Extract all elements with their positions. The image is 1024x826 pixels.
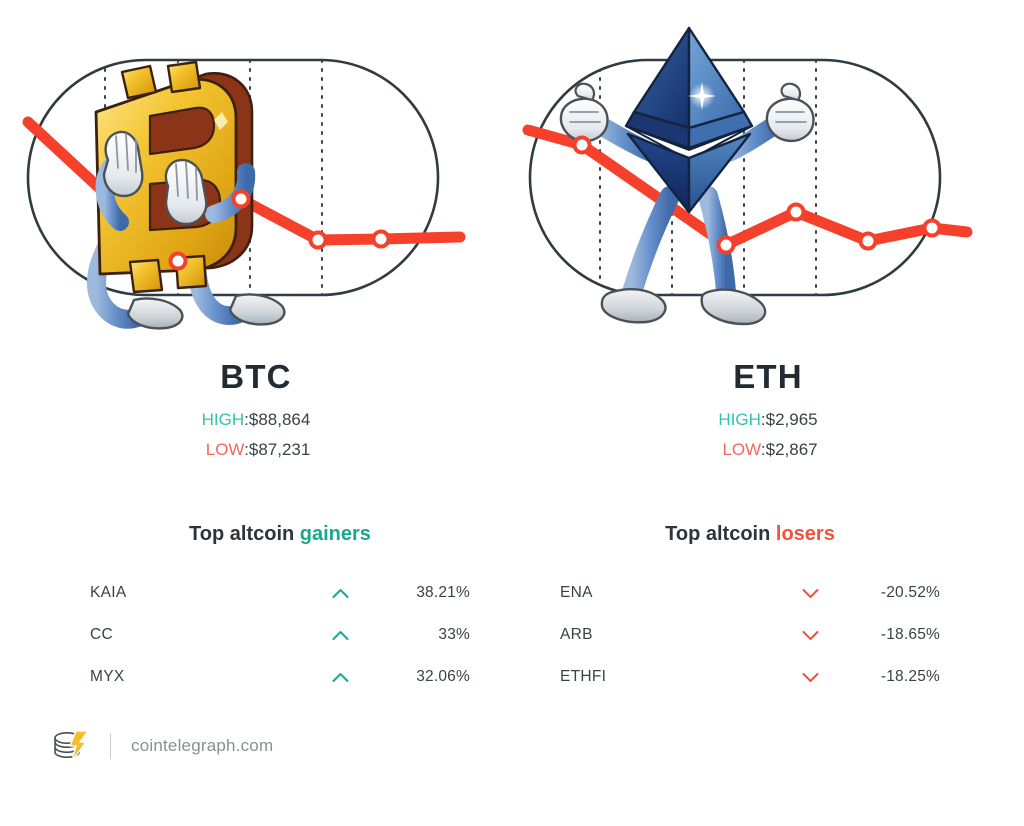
eth-low-label-cell: LOW:: [718, 435, 765, 465]
eth-high-value: $2,965: [766, 405, 818, 435]
btc-low-row: LOW: $87,231: [202, 435, 311, 465]
btc-high-row: HIGH: $88,864: [202, 405, 311, 435]
gainers-title-prefix: Top altcoin: [189, 523, 300, 545]
lightning-bolt-icon: [70, 731, 88, 761]
btc-high-label-cell: HIGH:: [202, 405, 249, 435]
eth-chart-panel: [512, 0, 1024, 360]
chevron-up-icon: [320, 630, 360, 641]
gainer-row[interactable]: MYX 32.06%: [90, 656, 470, 698]
btc-high-low-table: HIGH: $88,864 LOW: $87,231: [202, 405, 311, 464]
chevron-up-icon: [320, 588, 360, 599]
btc-hand-left: [104, 132, 142, 196]
loser-symbol: ENA: [560, 584, 790, 602]
gainer-row[interactable]: KAIA 38.21%: [90, 572, 470, 614]
eth-high-label-cell: HIGH:: [718, 405, 765, 435]
btc-summary: BTC HIGH: $88,864 LOW: $87,231: [0, 360, 512, 469]
eth-high-row: HIGH: $2,965: [718, 405, 817, 435]
gainer-change: 32.06%: [360, 668, 470, 686]
losers-title-prefix: Top altcoin: [665, 523, 776, 545]
top-gainers-column: Top altcoin gainers KAIA 38.21% CC 33%: [90, 524, 470, 698]
loser-change: -20.52%: [830, 584, 940, 602]
eth-high-label: HIGH: [718, 410, 761, 429]
chevron-down-icon: [790, 630, 830, 641]
loser-row[interactable]: ETHFI -18.25%: [560, 656, 940, 698]
btc-high-label: HIGH: [202, 410, 245, 429]
eth-low-row: LOW: $2,867: [718, 435, 817, 465]
loser-symbol: ARB: [560, 626, 790, 644]
chevron-down-icon: [790, 588, 830, 599]
gainer-symbol: KAIA: [90, 584, 320, 602]
btc-ticker-title: BTC: [0, 360, 512, 393]
infographic-page: BTC HIGH: $88,864 LOW: $87,231 ETH HIGH:…: [0, 0, 1024, 826]
gainer-change: 33%: [360, 626, 470, 644]
altcoin-lists: Top altcoin gainers KAIA 38.21% CC 33%: [0, 524, 1024, 704]
gainers-title-accent: gainers: [300, 523, 371, 545]
eth-low-value: $2,867: [766, 435, 818, 465]
gainer-symbol: CC: [90, 626, 320, 644]
charts-row: [0, 0, 1024, 360]
eth-shoe-left: [602, 289, 666, 322]
losers-title-accent: losers: [776, 523, 835, 545]
btc-low-label: LOW: [206, 440, 244, 459]
eth-high-low-table: HIGH: $2,965 LOW: $2,867: [718, 405, 817, 464]
btc-shoe-left: [128, 298, 182, 328]
eth-ticker-title: ETH: [512, 360, 1024, 393]
loser-row[interactable]: ARB -18.65%: [560, 614, 940, 656]
btc-low-label-cell: LOW:: [202, 435, 249, 465]
btc-chart-svg: [0, 0, 512, 360]
eth-chart-svg: [512, 0, 1024, 360]
top-losers-column: Top altcoin losers ENA -20.52% ARB -18.: [560, 524, 940, 698]
top-losers-title: Top altcoin losers: [560, 524, 940, 544]
loser-change: -18.65%: [830, 626, 940, 644]
footer: cointelegraph.com: [50, 726, 273, 766]
chevron-down-icon: [790, 672, 830, 683]
footer-site-url: cointelegraph.com: [131, 736, 273, 756]
eth-low-label: LOW: [722, 440, 760, 459]
footer-divider: [110, 733, 111, 759]
btc-high-value: $88,864: [249, 405, 310, 435]
eth-summary: ETH HIGH: $2,965 LOW: $2,867: [512, 360, 1024, 469]
btc-shoe-right: [230, 294, 284, 324]
gainer-row[interactable]: CC 33%: [90, 614, 470, 656]
gainer-symbol: MYX: [90, 668, 320, 686]
eth-high-colon: :: [761, 410, 766, 429]
top-gainers-title: Top altcoin gainers: [90, 524, 470, 544]
chevron-up-icon: [320, 672, 360, 683]
loser-change: -18.25%: [830, 668, 940, 686]
btc-low-value: $87,231: [249, 435, 310, 465]
btc-chart-panel: [0, 0, 512, 360]
eth-low-colon: :: [761, 440, 766, 459]
loser-symbol: ETHFI: [560, 668, 790, 686]
loser-row[interactable]: ENA -20.52%: [560, 572, 940, 614]
gainer-change: 38.21%: [360, 584, 470, 602]
cointelegraph-logo-icon[interactable]: [50, 728, 92, 764]
